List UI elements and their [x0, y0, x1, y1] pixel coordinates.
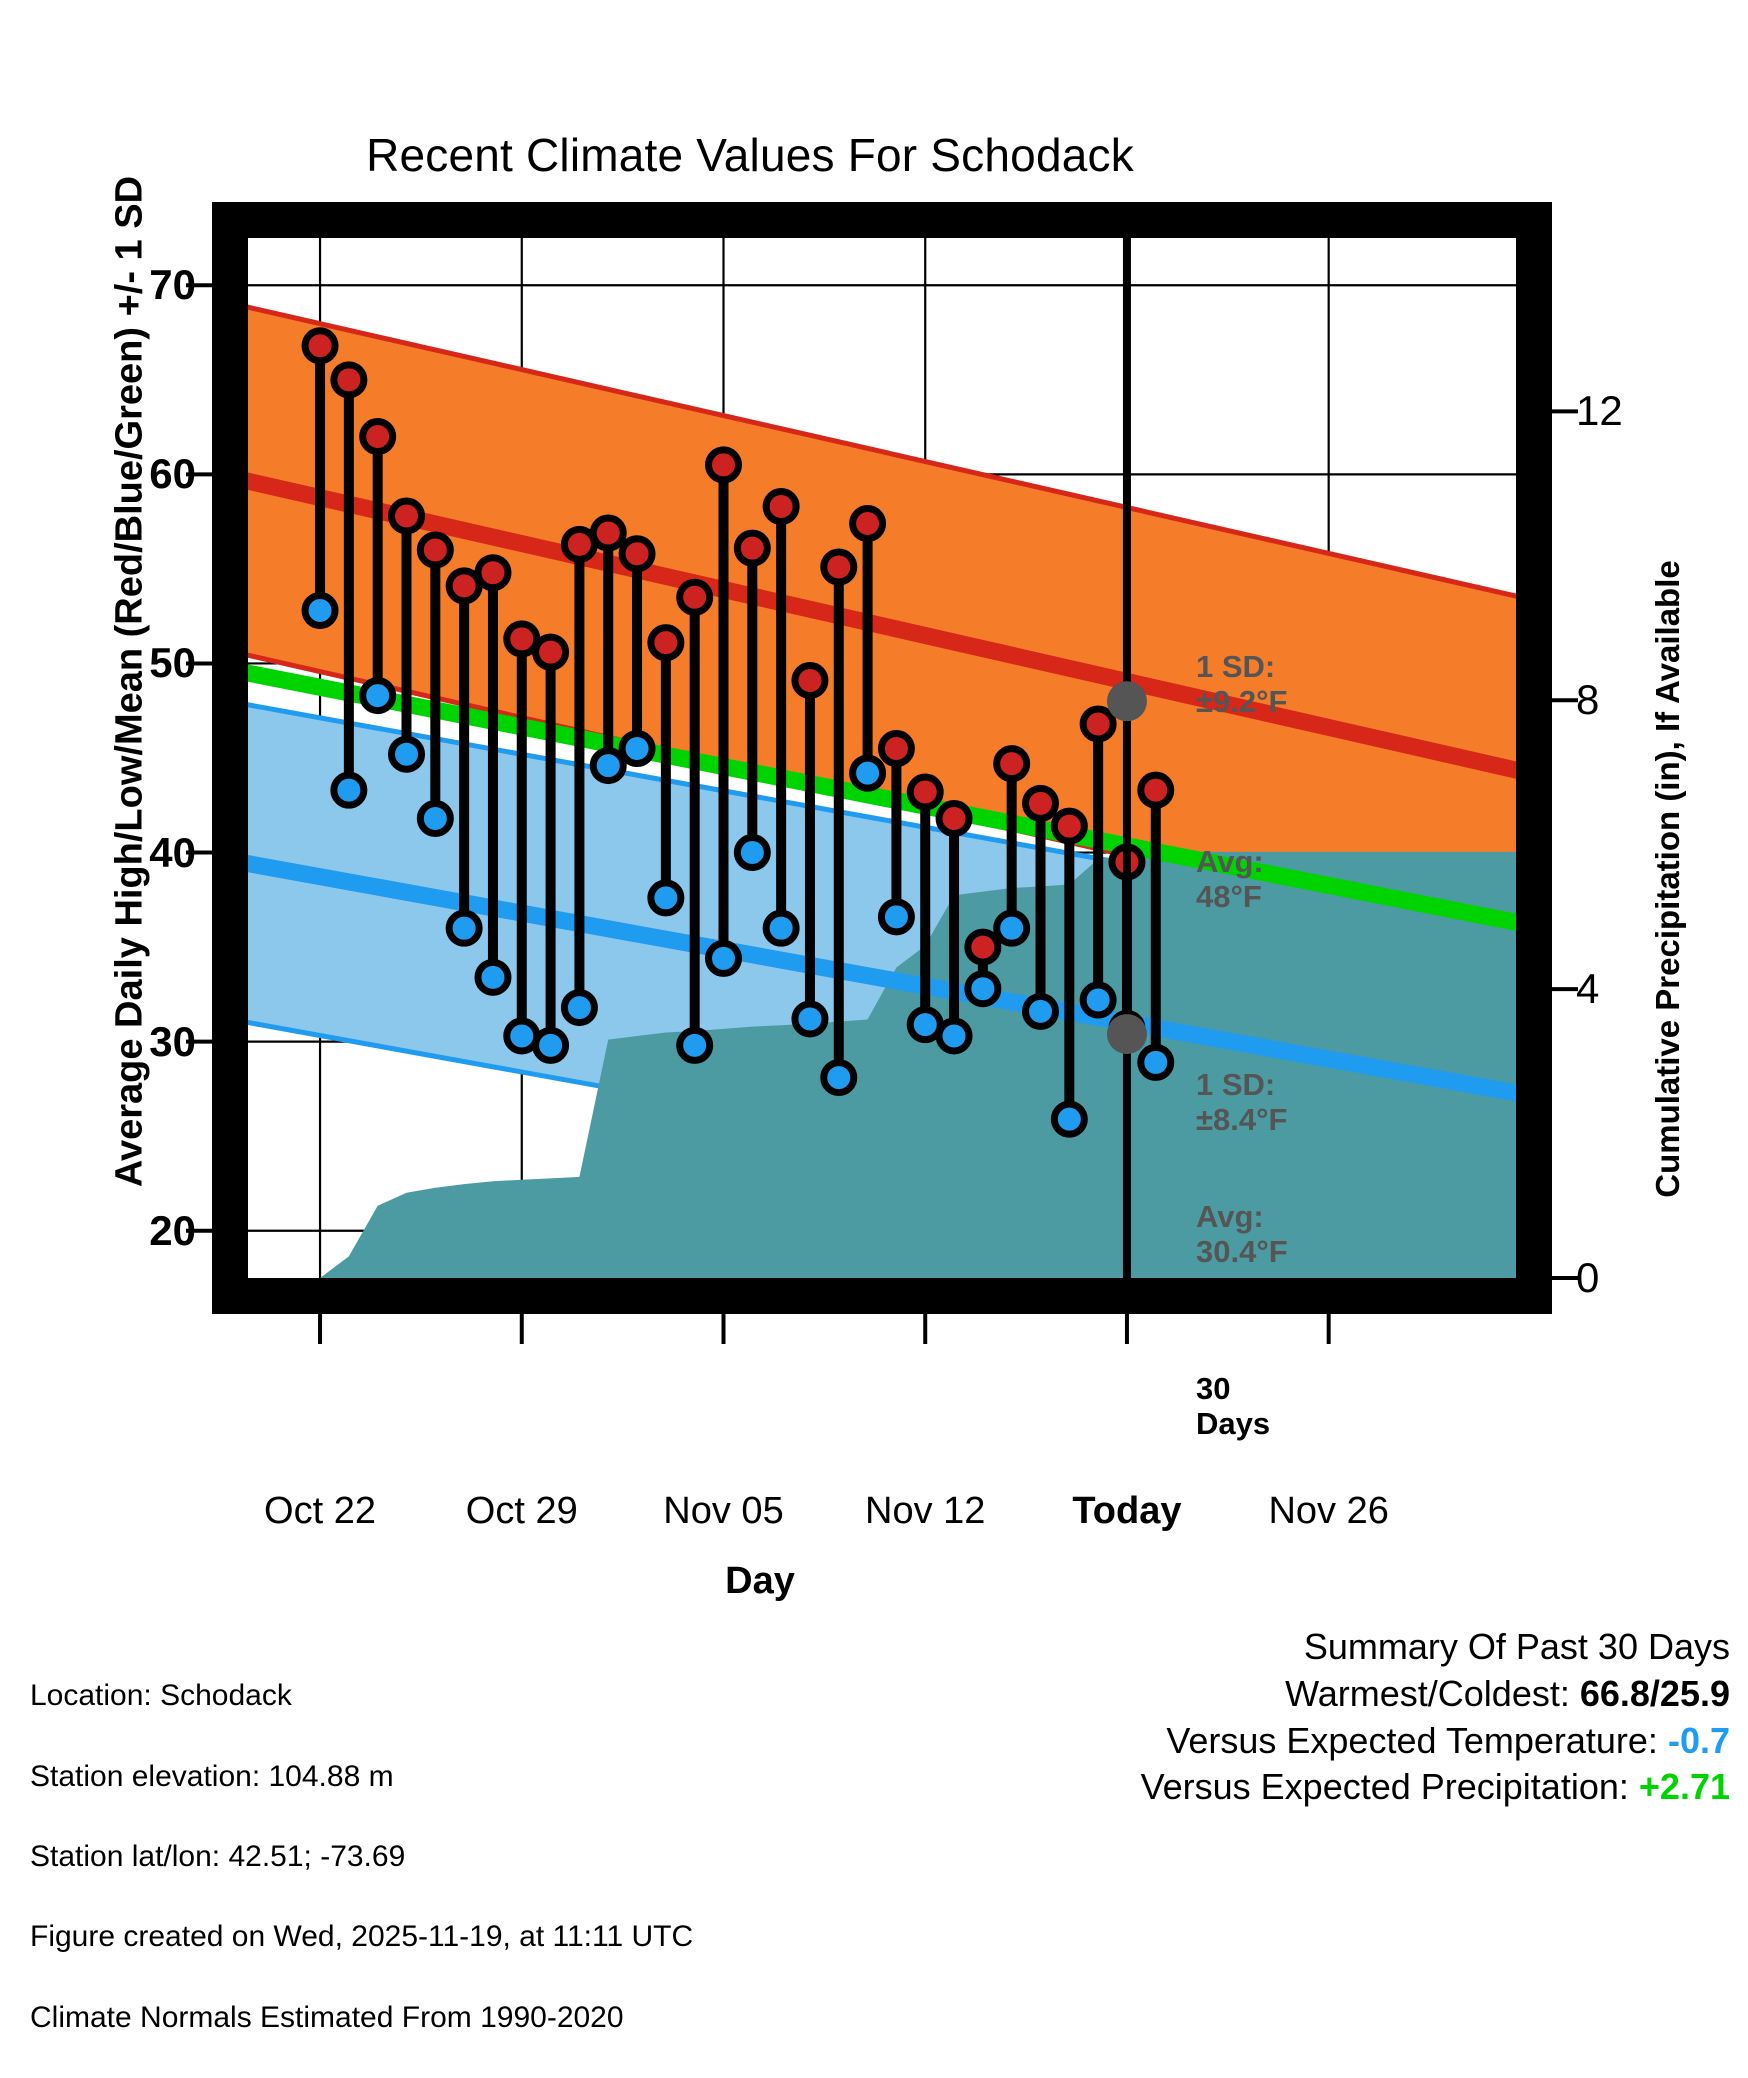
- summary-precipitation-value: +2.71: [1639, 1766, 1730, 1807]
- footer-metadata: Location: Schodack Station elevation: 10…: [30, 1636, 693, 2078]
- summary-heading: Summary Of Past 30 Days: [1141, 1624, 1730, 1671]
- summary-warmest-coldest-value: 66.8/25.9: [1580, 1673, 1730, 1714]
- footer-elevation: Station elevation: 104.88 m: [30, 1757, 693, 1797]
- summary-precipitation: Versus Expected Precipitation: +2.71: [1141, 1764, 1730, 1811]
- summary-warmest-coldest: Warmest/Coldest: 66.8/25.9: [1141, 1671, 1730, 1718]
- today-days-annotation: 30 Days: [1196, 1372, 1270, 1441]
- figure: Recent Climate Values For Schodack Avera…: [0, 0, 1748, 1828]
- low-avg-annotation: Avg: 30.4°F: [1196, 1200, 1288, 1269]
- footer-normals: Climate Normals Estimated From 1990-2020: [30, 1998, 693, 2038]
- summary-block: Summary Of Past 30 Days Warmest/Coldest:…: [1141, 1624, 1730, 1811]
- summary-temperature-value: -0.7: [1668, 1720, 1730, 1761]
- summary-precipitation-label: Versus Expected Precipitation:: [1141, 1766, 1629, 1807]
- footer-location: Location: Schodack: [30, 1676, 693, 1716]
- summary-temperature: Versus Expected Temperature: -0.7: [1141, 1718, 1730, 1765]
- summary-temperature-label: Versus Expected Temperature:: [1166, 1720, 1658, 1761]
- low-sd-annotation: 1 SD: ±8.4°F: [1196, 1068, 1287, 1137]
- summary-warmest-coldest-label: Warmest/Coldest:: [1285, 1673, 1570, 1714]
- footer-created: Figure created on Wed, 2025-11-19, at 11…: [30, 1917, 693, 1957]
- high-avg-annotation: Avg: 48°F: [1196, 845, 1264, 914]
- high-sd-annotation: 1 SD: ±9.2°F: [1196, 650, 1287, 719]
- footer-latlon: Station lat/lon: 42.51; -73.69: [30, 1837, 693, 1877]
- climate-chart-plot: [0, 0, 1748, 1828]
